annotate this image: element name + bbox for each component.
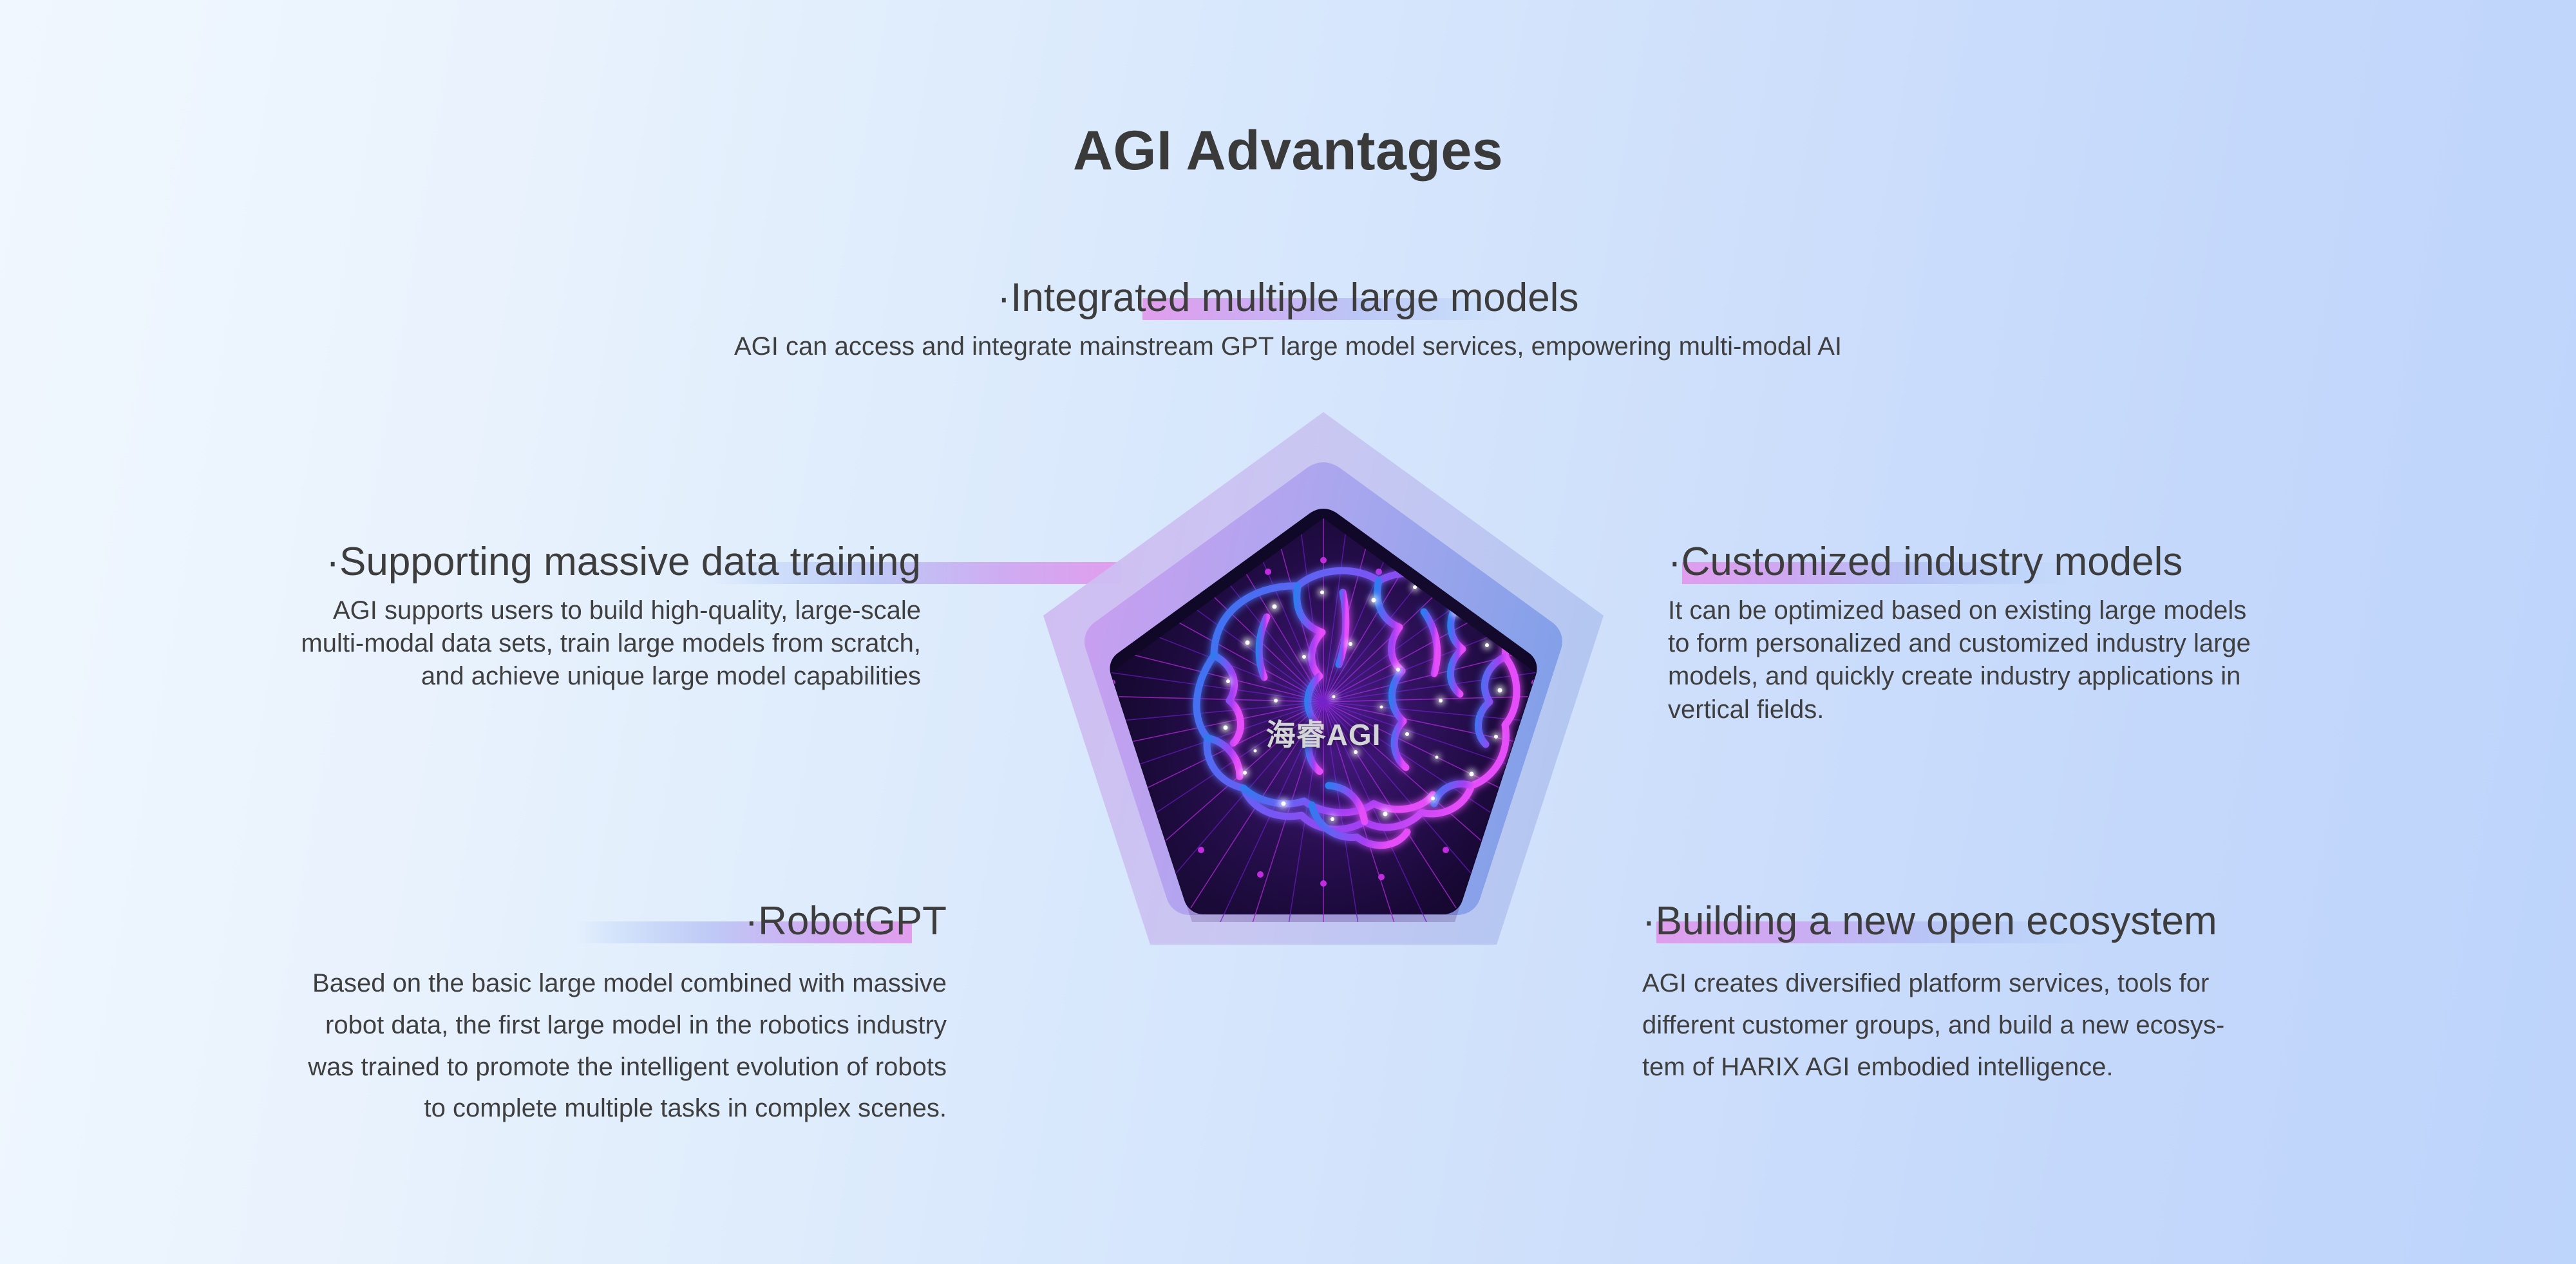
- body-line: to form personalized and customized indu…: [1668, 627, 2524, 660]
- heading-text: Integrated multiple large models: [1010, 276, 1578, 320]
- body-line: vertical fields.: [1668, 693, 2524, 726]
- bullet-icon: ·: [998, 276, 1011, 320]
- body-line: models, and quickly create industry appl…: [1668, 660, 2524, 693]
- body-line: multi-modal data sets, train large model…: [0, 627, 921, 660]
- section-body-left-mid: AGI supports users to build high-quality…: [0, 594, 921, 693]
- section-body-left-bottom: Based on the basic large model combined …: [0, 963, 947, 1129]
- body-line: It can be optimized based on existing la…: [1668, 594, 2524, 627]
- section-integrated-multiple-large-models: ·Integrated multiple large models AGI ca…: [0, 277, 2576, 363]
- heading-text: Customized industry models: [1681, 540, 2183, 584]
- bullet-icon: ·: [1642, 899, 1656, 943]
- body-line: was trained to promote the intelligent e…: [0, 1046, 947, 1088]
- body-line: AGI supports users to build high-quality…: [0, 594, 921, 627]
- section-heading-right-mid: ·Customized industry models: [1668, 541, 2183, 585]
- section-body-right-mid: It can be optimized based on existing la…: [1668, 594, 2524, 726]
- emblem-center-label: 海睿AGI: [1021, 712, 1626, 754]
- body-line: robot data, the first large model in the…: [0, 1005, 947, 1046]
- bullet-icon: ·: [326, 540, 339, 584]
- section-supporting-massive-data-training: ·Supporting massive data training AGI su…: [0, 541, 921, 693]
- section-heading-right-bottom: ·Building a new open ecosystem: [1642, 900, 2217, 945]
- page-title: AGI Advantages: [0, 119, 2576, 183]
- heading-text: Building a new open ecosystem: [1656, 899, 2217, 943]
- section-customized-industry-models: ·Customized industry models It can be op…: [1668, 541, 2524, 726]
- heading-text: RobotGPT: [758, 899, 947, 943]
- section-heading-left-mid: ·Supporting massive data training: [326, 541, 921, 585]
- body-line: to complete multiple tasks in complex sc…: [0, 1088, 947, 1129]
- section-body-right-bottom: AGI creates diversified platform service…: [1642, 963, 2531, 1088]
- heading-text: Supporting massive data training: [339, 540, 921, 584]
- body-line: AGI creates diversified platform service…: [1642, 963, 2531, 1005]
- section-building-a-new-open-ecosystem: ·Building a new open ecosystem AGI creat…: [1642, 900, 2531, 1088]
- body-line: and achieve unique large model capabilit…: [0, 660, 921, 693]
- section-body-top: AGI can access and integrate mainstream …: [0, 330, 2576, 363]
- bullet-icon: ·: [744, 899, 758, 943]
- section-heading-top: ·Integrated multiple large models: [998, 277, 1579, 321]
- body-line: different customer groups, and build a n…: [1642, 1005, 2531, 1046]
- section-robotgpt: ·RobotGPT Based on the basic large model…: [0, 900, 947, 1129]
- bullet-icon: ·: [1668, 540, 1681, 584]
- section-heading-left-bottom: ·RobotGPT: [744, 900, 947, 945]
- body-line: tem of HARIX AGI embodied intelligence.: [1642, 1046, 2531, 1088]
- agi-pentagon-emblem: 海睿AGI: [1021, 399, 1626, 1095]
- body-line: Based on the basic large model combined …: [0, 963, 947, 1005]
